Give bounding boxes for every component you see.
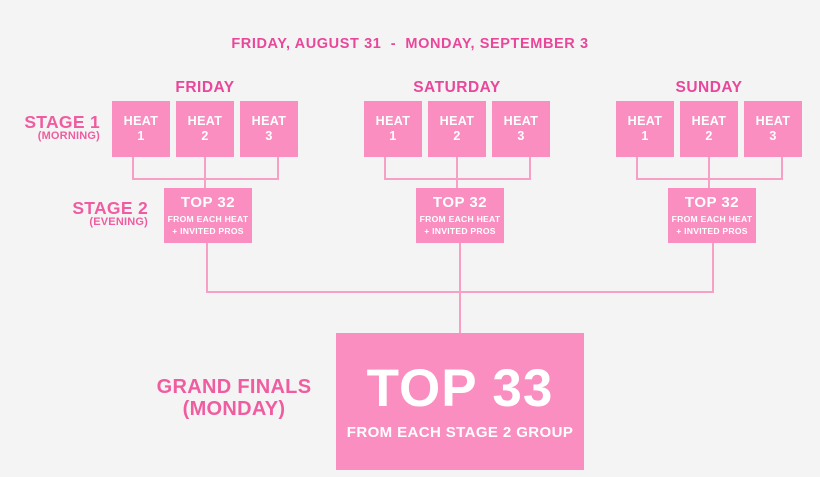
connector-saturday-heat3	[529, 157, 531, 180]
top32-sub-line1: FROM EACH HEAT	[672, 214, 753, 226]
grand-finals-box: TOP 33 FROM EACH STAGE 2 GROUP	[336, 333, 584, 470]
heat-number: 3	[769, 129, 776, 144]
heat-label: HEAT	[252, 114, 287, 129]
heat-label: HEAT	[756, 114, 791, 129]
heat-number: 1	[137, 129, 144, 144]
top32-box-saturday: TOP 32 FROM EACH HEAT + INVITED PROS	[416, 188, 504, 243]
connector-sunday-heat1	[636, 157, 638, 180]
connector-sunday-heat3	[781, 157, 783, 180]
heat-label: HEAT	[124, 114, 159, 129]
heat-label: HEAT	[504, 114, 539, 129]
heat-number: 2	[705, 129, 712, 144]
top32-sub-line1: FROM EACH HEAT	[420, 214, 501, 226]
heat-number: 3	[265, 129, 272, 144]
heat-number: 1	[389, 129, 396, 144]
heat-label: HEAT	[376, 114, 411, 129]
stage-2-subtitle: (EVENING)	[0, 217, 148, 228]
heat-box-saturday-1: HEAT 1	[364, 101, 422, 157]
heat-box-friday-3: HEAT 3	[240, 101, 298, 157]
heat-box-sunday-3: HEAT 3	[744, 101, 802, 157]
finals-sub: FROM EACH STAGE 2 GROUP	[347, 424, 573, 441]
top32-sub-line2: + INVITED PROS	[172, 226, 244, 238]
heat-number: 2	[453, 129, 460, 144]
heat-label: HEAT	[692, 114, 727, 129]
grand-finals-title: GRAND FINALS	[140, 377, 328, 399]
heat-label: HEAT	[440, 114, 475, 129]
top32-sub-line1: FROM EACH HEAT	[168, 214, 249, 226]
connector-friday-heat3	[277, 157, 279, 180]
heat-box-friday-1: HEAT 1	[112, 101, 170, 157]
stage-1-subtitle: (MORNING)	[0, 131, 100, 142]
top32-main: TOP 32	[181, 194, 235, 211]
connector-finals-drop	[459, 291, 461, 334]
connector-saturday-heat2	[456, 157, 458, 180]
heat-box-saturday-2: HEAT 2	[428, 101, 486, 157]
top32-main: TOP 32	[685, 194, 739, 211]
stage-1-label: STAGE 1 (MORNING)	[0, 113, 100, 143]
connector-saturday-heat1	[384, 157, 386, 180]
heat-box-sunday-2: HEAT 2	[680, 101, 738, 157]
connector-friday-heat1	[132, 157, 134, 180]
stage-2-label: STAGE 2 (EVENING)	[0, 199, 148, 229]
heat-number: 3	[517, 129, 524, 144]
heat-box-friday-2: HEAT 2	[176, 101, 234, 157]
connector-friday-heat2	[204, 157, 206, 180]
connector-sunday-to-finals	[712, 243, 714, 293]
heat-box-sunday-1: HEAT 1	[616, 101, 674, 157]
finals-main: TOP 33	[367, 362, 554, 415]
heat-label: HEAT	[188, 114, 223, 129]
top32-main: TOP 32	[433, 194, 487, 211]
top32-box-friday: TOP 32 FROM EACH HEAT + INVITED PROS	[164, 188, 252, 243]
connector-sunday-heat2	[708, 157, 710, 180]
connector-saturday-to-finals	[459, 243, 461, 293]
heat-label: HEAT	[628, 114, 663, 129]
page-title: FRIDAY, AUGUST 31 - MONDAY, SEPTEMBER 3	[0, 36, 820, 52]
day-heading-saturday: SATURDAY	[364, 79, 550, 97]
grand-finals-subtitle: (MONDAY)	[140, 399, 328, 421]
heat-number: 1	[641, 129, 648, 144]
day-heading-friday: FRIDAY	[112, 79, 298, 97]
top32-box-sunday: TOP 32 FROM EACH HEAT + INVITED PROS	[668, 188, 756, 243]
top32-sub-line2: + INVITED PROS	[676, 226, 748, 238]
tournament-bracket-diagram: FRIDAY, AUGUST 31 - MONDAY, SEPTEMBER 3 …	[0, 0, 820, 477]
day-heading-sunday: SUNDAY	[616, 79, 802, 97]
heat-number: 2	[201, 129, 208, 144]
heat-box-saturday-3: HEAT 3	[492, 101, 550, 157]
top32-sub-line2: + INVITED PROS	[424, 226, 496, 238]
stage-2-title: STAGE 2	[0, 199, 148, 217]
grand-finals-label: GRAND FINALS (MONDAY)	[140, 377, 328, 420]
stage-1-title: STAGE 1	[0, 113, 100, 131]
connector-friday-to-finals	[206, 243, 208, 293]
